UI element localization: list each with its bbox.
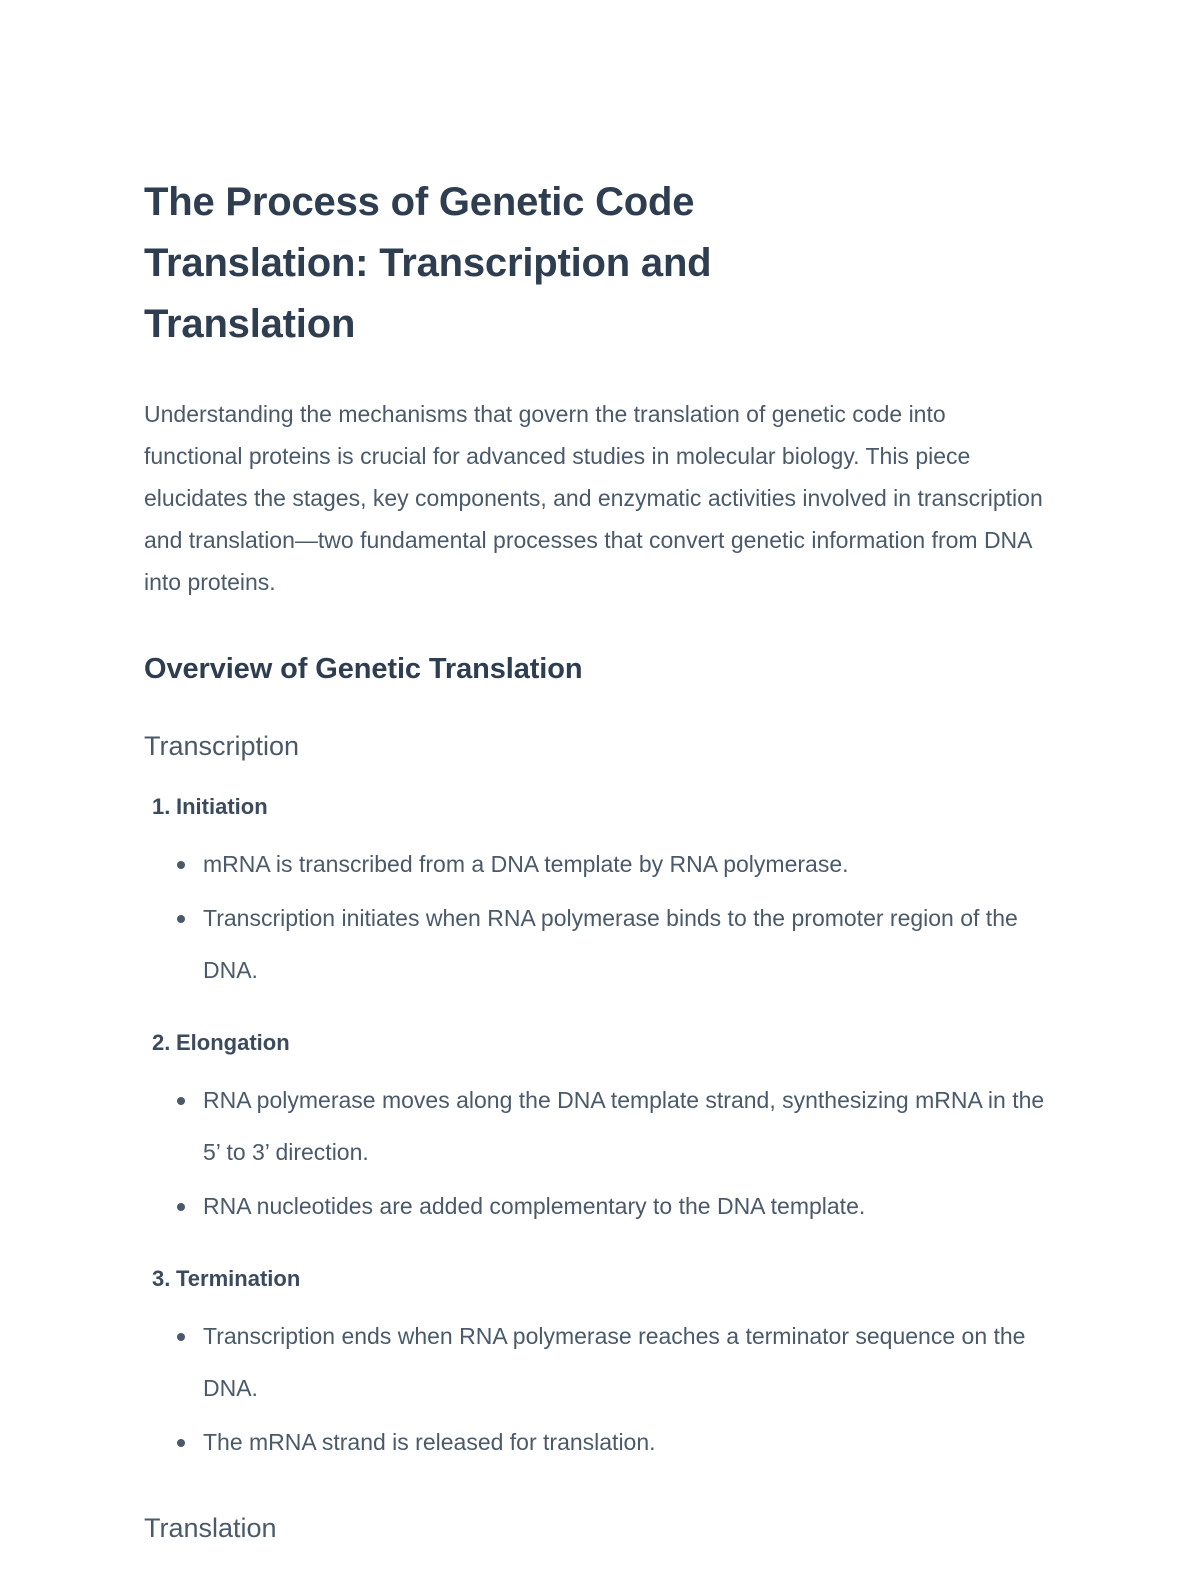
step-label-initiation: Initiation [144, 790, 1045, 824]
step-item: Termination Transcription ends when RNA … [144, 1262, 1045, 1468]
step-bullet-list: mRNA is transcribed from a DNA template … [144, 838, 1045, 996]
step-label-termination: Termination [144, 1262, 1045, 1296]
step-label-elongation: Elongation [144, 1026, 1045, 1060]
list-item: Transcription initiates when RNA polymer… [144, 892, 1045, 996]
step-bullet-list: RNA polymerase moves along the DNA templ… [144, 1074, 1045, 1232]
intro-paragraph: Understanding the mechanisms that govern… [144, 393, 1045, 603]
step-item: Initiation mRNA is transcribed from a DN… [144, 790, 1045, 996]
step-item: Elongation RNA polymerase moves along th… [144, 1026, 1045, 1232]
page-title: The Process of Genetic Code Translation:… [144, 172, 904, 355]
subsection-heading-transcription: Transcription [144, 728, 1045, 764]
list-item: The mRNA strand is released for translat… [144, 1416, 1045, 1468]
step-bullet-list: Transcription ends when RNA polymerase r… [144, 1310, 1045, 1468]
list-item: RNA nucleotides are added complementary … [144, 1180, 1045, 1232]
list-item: RNA polymerase moves along the DNA templ… [144, 1074, 1045, 1178]
transcription-step-list: Initiation mRNA is transcribed from a DN… [144, 790, 1045, 1468]
list-item: Transcription ends when RNA polymerase r… [144, 1310, 1045, 1414]
section-heading-overview: Overview of Genetic Translation [144, 649, 1045, 689]
list-item: mRNA is transcribed from a DNA template … [144, 838, 1045, 890]
subsection-heading-translation: Translation [144, 1510, 1045, 1546]
document-page: The Process of Genetic Code Translation:… [0, 0, 1200, 1586]
